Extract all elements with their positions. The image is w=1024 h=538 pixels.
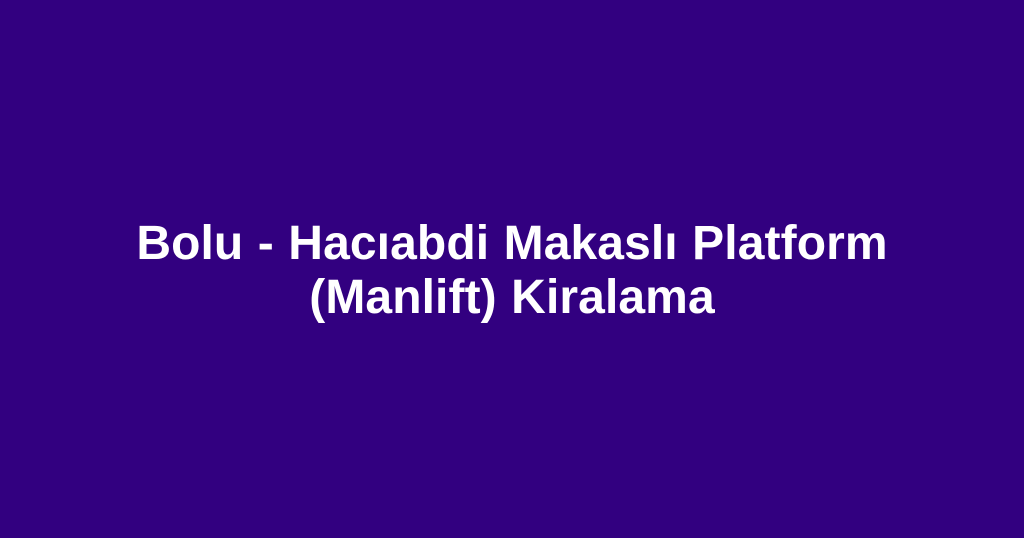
page-title-line-2: (Manlift) Kiralama <box>48 271 976 325</box>
page-title-line-1: Bolu - Hacıabdi Makaslı Platform <box>48 217 976 271</box>
hero-copy-block: Bolu - Hacıabdi Makaslı Platform (Manlif… <box>0 217 1024 325</box>
hero-banner: Bolu - Hacıabdi Makaslı Platform (Manlif… <box>0 0 1024 538</box>
page-title: Bolu - Hacıabdi Makaslı Platform (Manlif… <box>48 217 976 325</box>
